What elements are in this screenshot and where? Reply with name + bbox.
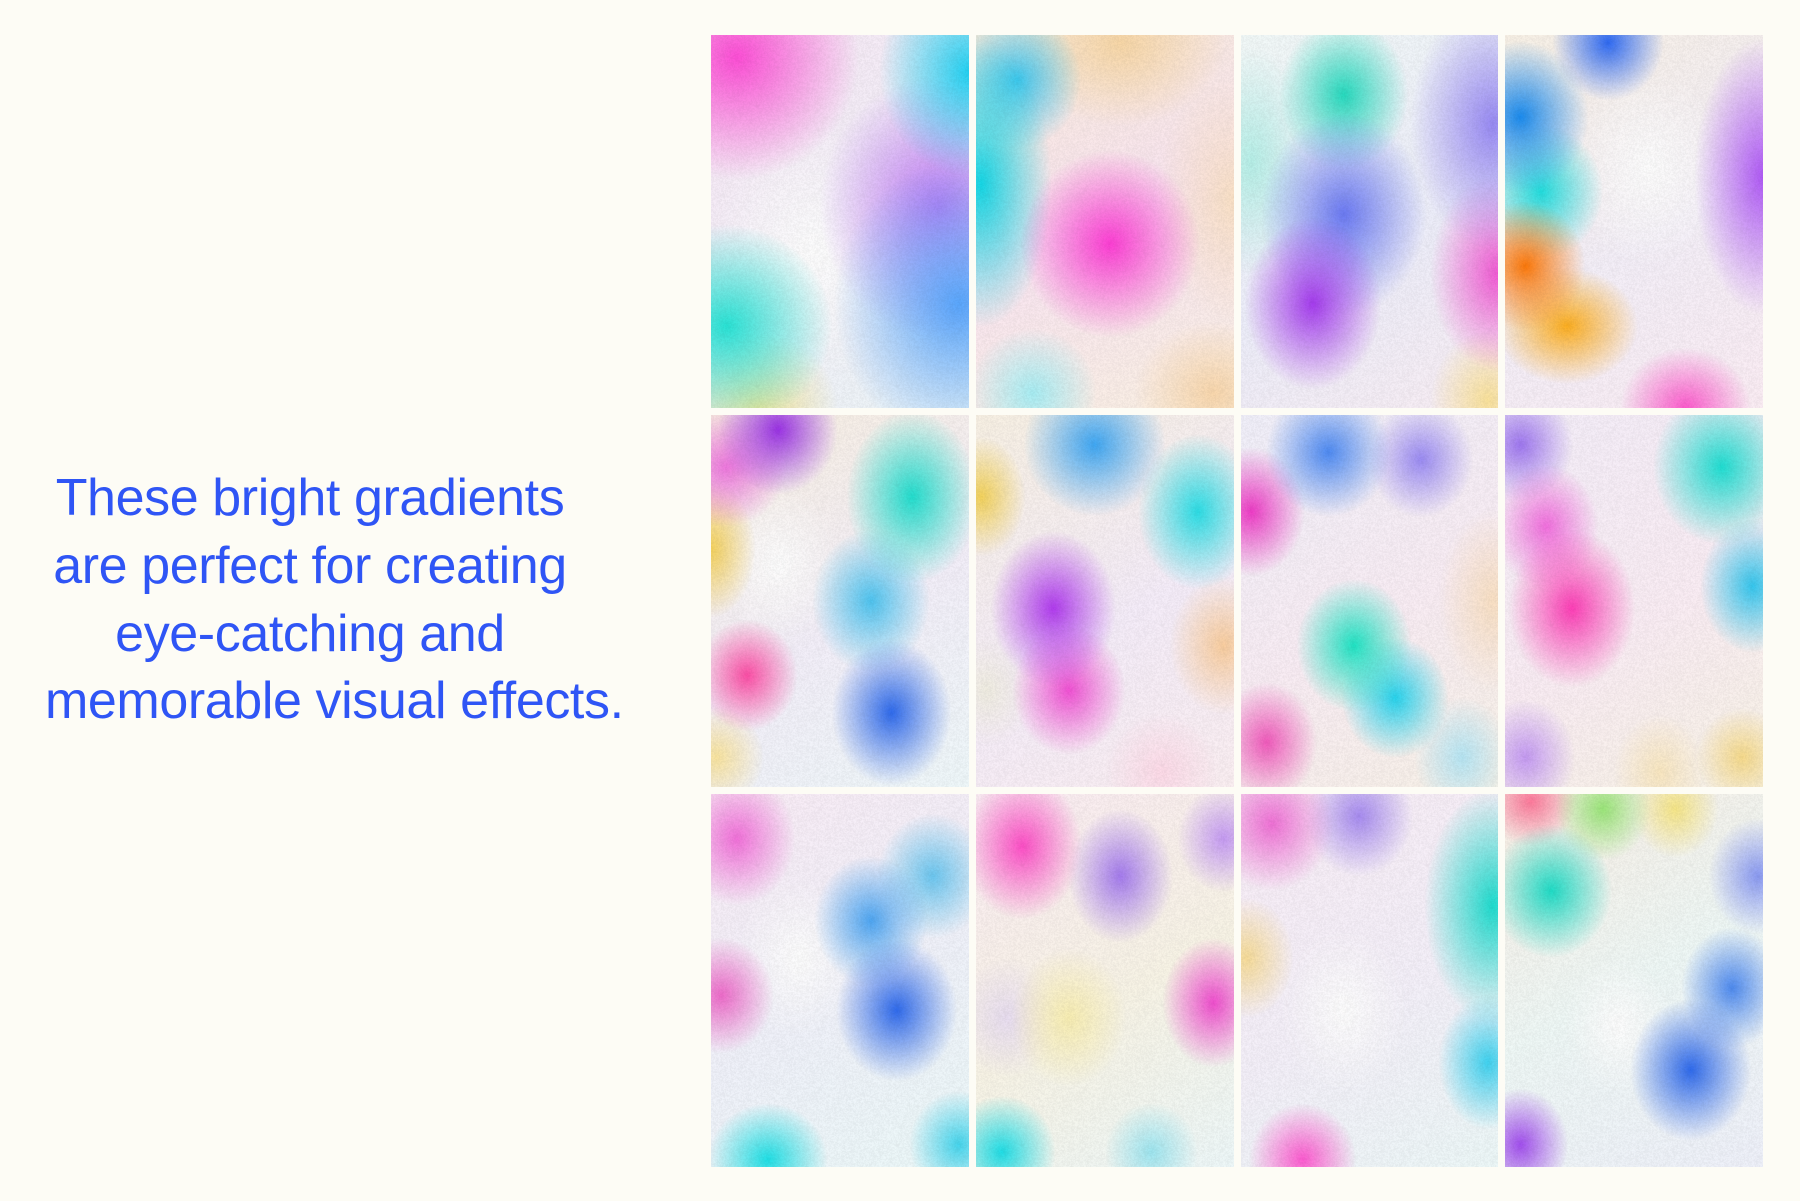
gradient-mesh-9 [711, 794, 969, 1167]
gradient-tile-4[interactable] [1505, 35, 1763, 408]
gradient-tile-1[interactable] [711, 35, 969, 408]
gradient-mesh-2 [976, 35, 1234, 408]
gradient-mesh-11 [1241, 794, 1499, 1167]
gradient-tile-3[interactable] [1241, 35, 1499, 408]
headline-line-4: memorable visual effects. [45, 668, 575, 736]
gradient-mesh-5 [711, 415, 969, 788]
gradient-tile-9[interactable] [711, 794, 969, 1167]
gradient-mesh-3 [1241, 35, 1499, 408]
page-title: These bright gradients are perfect for c… [45, 465, 575, 735]
gradient-mesh-8 [1505, 415, 1763, 788]
gradient-gallery-grid [711, 35, 1763, 1167]
headline-line-1: These bright gradients [45, 465, 575, 533]
headline-line-2: are perfect for creating [45, 533, 575, 601]
gradient-tile-8[interactable] [1505, 415, 1763, 788]
gradient-tile-11[interactable] [1241, 794, 1499, 1167]
gradient-mesh-6 [976, 415, 1234, 788]
gradient-mesh-4 [1505, 35, 1763, 408]
gradient-tile-7[interactable] [1241, 415, 1499, 788]
gradient-mesh-12 [1505, 794, 1763, 1167]
page-root: These bright gradients are perfect for c… [0, 0, 1800, 1201]
gradient-tile-10[interactable] [976, 794, 1234, 1167]
gradient-tile-2[interactable] [976, 35, 1234, 408]
gradient-tile-12[interactable] [1505, 794, 1763, 1167]
gradient-tile-6[interactable] [976, 415, 1234, 788]
gradient-mesh-7 [1241, 415, 1499, 788]
headline-block: These bright gradients are perfect for c… [0, 0, 620, 1201]
gradient-tile-5[interactable] [711, 415, 969, 788]
headline-line-3: eye-catching and [45, 601, 575, 669]
gradient-mesh-1 [711, 35, 969, 408]
gradient-mesh-10 [976, 794, 1234, 1167]
